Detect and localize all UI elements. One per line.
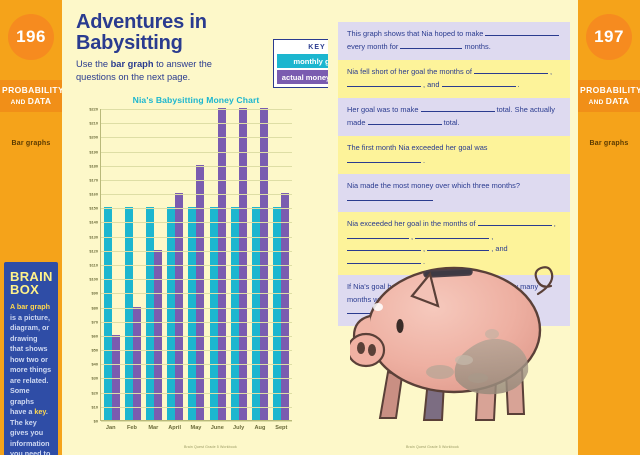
chart-y-tick-label: $100 <box>89 277 98 282</box>
chart-y-tick-label: $190 <box>89 149 98 154</box>
chart-y-tick-label: $210 <box>89 121 98 126</box>
chart-bar-actual-money-made <box>260 108 268 420</box>
chart-gridline: $200 <box>101 137 292 138</box>
page-title: Adventures in Babysitting <box>76 12 207 54</box>
chart-y-tick-label: $140 <box>89 220 98 225</box>
chart-gridline: $160 <box>101 194 292 195</box>
question-text: . <box>421 156 425 165</box>
chart-gridline: $90 <box>101 293 292 294</box>
chart-x-tick-label: April <box>164 425 185 431</box>
chart-gridline: $50 <box>101 350 292 351</box>
strand-and-right: AND <box>589 99 604 106</box>
question-text: This graph shows that Nia hoped to make <box>347 29 485 38</box>
question-text: The first month Nia exceeded her goal wa… <box>347 143 488 152</box>
chart-bar-actual-money-made <box>196 165 204 420</box>
chart-gridline: $190 <box>101 152 292 153</box>
chart-x-tick-label: May <box>185 425 206 431</box>
brain-box-key-term: key <box>34 407 45 416</box>
chart-bar-actual-money-made <box>133 307 141 420</box>
chart-y-tick-label: $0 <box>94 419 98 424</box>
question-row: Her goal was to make total. She actually… <box>338 98 570 136</box>
chart-gridline: $60 <box>101 336 292 337</box>
page-title-line1: Adventures in <box>76 12 207 33</box>
chart-y-tick-label: $120 <box>89 248 98 253</box>
chart-x-tick-label: June <box>207 425 228 431</box>
chart-y-tick-label: $180 <box>89 163 98 168</box>
right-sidebar: 197 PROBABILITY AND DATA Bar graphs <box>578 0 640 455</box>
left-sidebar: 196 PROBABILITY AND DATA Bar graphs BRAI… <box>0 0 62 455</box>
chart-gridline: $180 <box>101 166 292 167</box>
chart-plot-area: $220$210$200$190$180$170$160$150$140$130… <box>100 109 292 421</box>
question-text: , and <box>421 80 442 89</box>
answer-blank[interactable] <box>347 155 421 163</box>
chart-y-tick-label: $220 <box>89 107 98 112</box>
brain-box-text-2: is a picture, diagram, or drawing that s… <box>10 313 51 417</box>
chart-bar-monthly-goal <box>273 207 281 420</box>
strand-band-right: PROBABILITY AND DATA <box>578 80 640 112</box>
chart-bar-monthly-goal <box>167 207 175 420</box>
answer-blank[interactable] <box>442 79 516 87</box>
question-row: Nia made the most money over which three… <box>338 174 570 212</box>
strand-title-right: PROBABILITY <box>580 85 638 95</box>
chart-x-axis-labels: JanFebMarAprilMayJuneJulyAugSept <box>100 425 292 431</box>
chart-y-tick-label: $70 <box>92 319 99 324</box>
piggy-bank-icon <box>350 252 556 432</box>
strand-band-left: PROBABILITY AND DATA <box>0 80 62 112</box>
chart-bar-monthly-goal <box>188 207 196 420</box>
question-text: total. <box>442 118 460 127</box>
chart-bar-actual-money-made <box>154 250 162 420</box>
question-text: , <box>489 232 493 241</box>
page-number-right: 197 <box>586 14 632 60</box>
topic-label-left: Bar graphs <box>12 140 51 147</box>
chart-bar-monthly-goal <box>146 207 154 420</box>
chart-gridline: $30 <box>101 378 292 379</box>
chart-gridline: $10 <box>101 407 292 408</box>
chart-y-tick-label: $200 <box>89 135 98 140</box>
chart-gridline: $170 <box>101 180 292 181</box>
question-text: , <box>552 219 556 228</box>
chart-y-tick-label: $170 <box>89 177 98 182</box>
strand-data-right: DATA <box>606 96 630 106</box>
chart-gridline: $70 <box>101 322 292 323</box>
topic-label-right: Bar graphs <box>590 140 629 147</box>
answer-blank[interactable] <box>474 66 548 74</box>
question-text: months. <box>462 42 490 51</box>
question-row: The first month Nia exceeded her goal wa… <box>338 136 570 174</box>
chart-y-tick-label: $20 <box>92 390 99 395</box>
chart-bar-actual-money-made <box>239 108 247 420</box>
instruction-bold: bar graph <box>111 59 154 69</box>
chart-gridline: $110 <box>101 265 292 266</box>
brain-box-term: A bar graph <box>10 302 50 311</box>
right-page: This graph shows that Nia hoped to make … <box>328 0 578 455</box>
chart-y-tick-label: $130 <box>89 234 98 239</box>
chart-y-tick-label: $160 <box>89 192 98 197</box>
chart-gridline: $0 <box>101 421 292 422</box>
chart-y-tick-label: $10 <box>92 404 99 409</box>
bar-chart: Nia's Babysitting Money Chart $220$210$2… <box>70 95 322 440</box>
question-text: Nia exceeded her goal in the months of <box>347 219 478 228</box>
strand-subtitle-right: AND DATA <box>580 96 638 106</box>
answer-blank[interactable] <box>347 79 421 87</box>
chart-x-tick-label: Aug <box>249 425 270 431</box>
question-text: every month for <box>347 42 400 51</box>
page-title-line2: Babysitting <box>76 33 207 54</box>
question-text: Her goal was to make <box>347 105 421 114</box>
chart-gridline: $80 <box>101 308 292 309</box>
footer-left: Brain Quest Grade 5 Workbook <box>184 445 237 449</box>
brain-box: BRAIN BOX A bar graph is a picture, diag… <box>4 262 58 455</box>
chart-bar-monthly-goal <box>252 207 260 420</box>
question-row: Nia fell short of her goal the months of… <box>338 60 570 98</box>
chart-bar-monthly-goal <box>210 207 218 420</box>
chart-bar-monthly-goal <box>125 207 133 420</box>
strand-title-left: PROBABILITY <box>2 85 60 95</box>
piggy-bank-illustration <box>350 252 556 432</box>
chart-y-tick-label: $110 <box>90 263 98 268</box>
instruction-pre: Use the <box>76 59 111 69</box>
brain-box-title: BRAIN BOX <box>10 270 52 296</box>
answer-blank[interactable] <box>415 231 489 239</box>
chart-y-tick-label: $150 <box>89 206 98 211</box>
workbook-spread: 196 PROBABILITY AND DATA Bar graphs BRAI… <box>0 0 640 455</box>
strand-subtitle-left: AND DATA <box>2 96 60 106</box>
chart-gridline: $210 <box>101 123 292 124</box>
chart-y-tick-label: $90 <box>92 291 99 296</box>
chart-bar-actual-money-made <box>218 108 226 420</box>
chart-x-tick-label: July <box>228 425 249 431</box>
chart-y-tick-label: $80 <box>92 305 99 310</box>
question-text: . <box>516 80 520 89</box>
answer-blank[interactable] <box>421 104 495 112</box>
left-page: Adventures in Babysitting Use the bar gr… <box>62 0 328 455</box>
chart-y-tick-label: $30 <box>92 376 99 381</box>
chart-gridline: $100 <box>101 279 292 280</box>
chart-y-tick-label: $50 <box>92 348 99 353</box>
chart-title: Nia's Babysitting Money Chart <box>70 95 322 105</box>
brain-box-title-line2: BOX <box>10 283 52 296</box>
chart-gridline: $220 <box>101 109 292 110</box>
question-row: This graph shows that Nia hoped to make … <box>338 22 570 60</box>
answer-blank[interactable] <box>400 41 462 49</box>
footer-right: Brain Quest Grade 5 Workbook <box>406 445 459 449</box>
chart-bar-monthly-goal <box>104 207 112 420</box>
answer-blank[interactable] <box>427 243 489 251</box>
chart-gridline: $150 <box>101 208 292 209</box>
chart-y-tick-label: $60 <box>92 333 99 338</box>
strand-data-left: DATA <box>28 96 52 106</box>
brain-box-text: A bar graph is a picture, diagram, or dr… <box>10 302 52 455</box>
answer-blank[interactable] <box>347 231 409 239</box>
chart-gridline: $130 <box>101 237 292 238</box>
chart-x-tick-label: Jan <box>100 425 121 431</box>
answer-blank[interactable] <box>347 243 421 251</box>
chart-gridline: $140 <box>101 222 292 223</box>
chart-gridline: $40 <box>101 364 292 365</box>
question-text: Nia made the most money over which three… <box>347 181 520 190</box>
page-number-left: 196 <box>8 14 54 60</box>
question-text: , <box>548 67 552 76</box>
chart-x-tick-label: Mar <box>143 425 164 431</box>
chart-gridline: $20 <box>101 393 292 394</box>
question-text: Nia fell short of her goal the months of <box>347 67 474 76</box>
chart-gridline: $120 <box>101 251 292 252</box>
chart-x-tick-label: Sept <box>271 425 292 431</box>
chart-bar-monthly-goal <box>231 207 239 420</box>
answer-blank[interactable] <box>347 193 433 201</box>
strand-and-left: AND <box>11 99 26 106</box>
instruction-text: Use the bar graph to answer the question… <box>76 58 216 84</box>
answer-blank[interactable] <box>368 117 442 125</box>
chart-x-tick-label: Feb <box>121 425 142 431</box>
chart-y-tick-label: $40 <box>92 362 99 367</box>
answer-blank[interactable] <box>478 218 552 226</box>
answer-blank[interactable] <box>485 28 559 36</box>
